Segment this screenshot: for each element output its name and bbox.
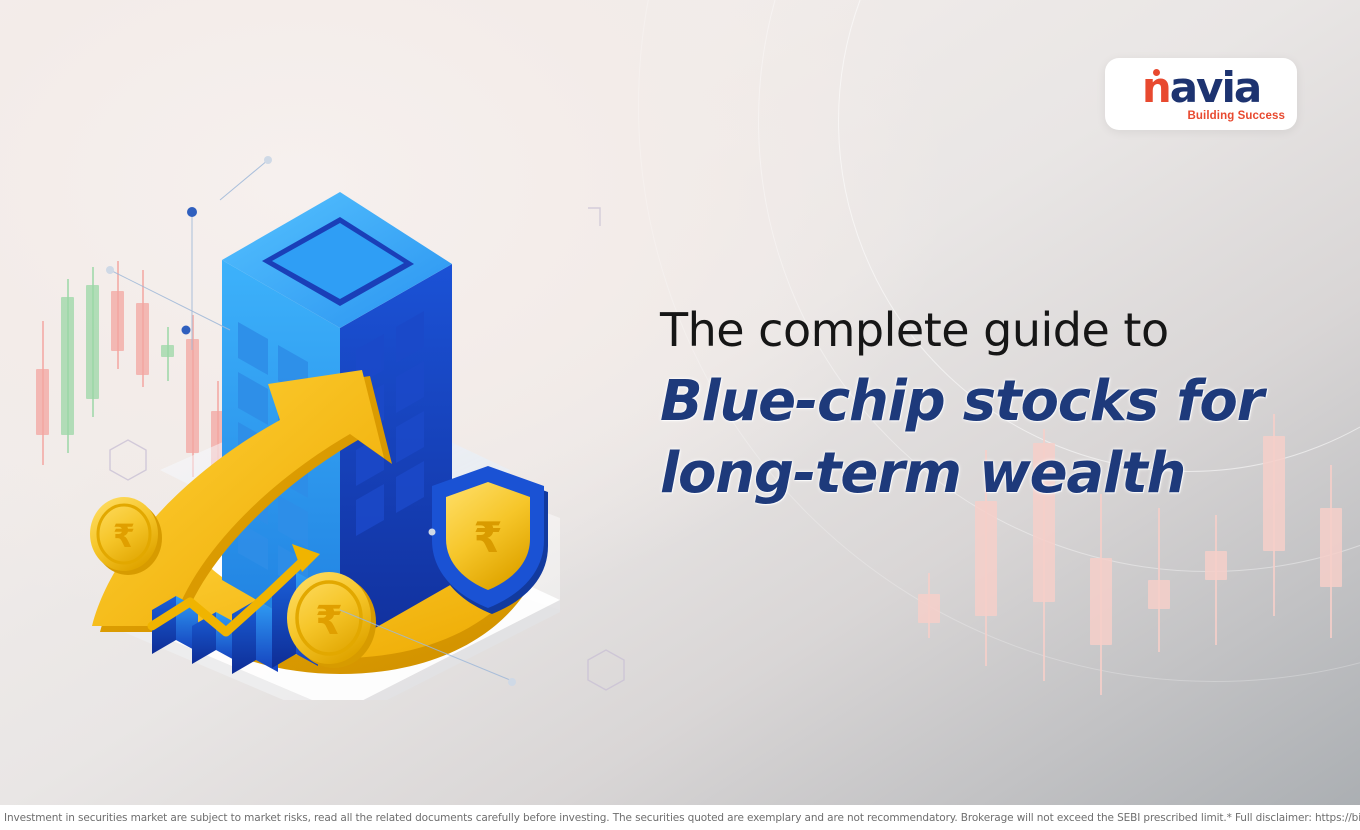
rupee-symbol-shield: ₹ xyxy=(473,513,502,562)
candlestick-body xyxy=(918,594,940,623)
rupee-coin-left: ₹ xyxy=(90,497,162,575)
headline-line-2: Blue-chip stocks for xyxy=(660,366,1320,438)
candlestick-wick xyxy=(1215,515,1217,645)
rupee-symbol-left: ₹ xyxy=(113,517,135,555)
logo-wordmark: n avia xyxy=(1142,67,1260,109)
disclaimer-bar: Investment in securities market are subj… xyxy=(0,805,1360,830)
headline-block: The complete guide to Blue-chip stocks f… xyxy=(660,306,1320,510)
candlestick-wick xyxy=(928,573,930,638)
connector-dots xyxy=(182,207,198,335)
candlestick-body xyxy=(1090,558,1112,644)
candlestick-wick xyxy=(1158,508,1160,652)
navia-logo-card[interactable]: n avia Building Success xyxy=(1105,58,1297,130)
rupee-symbol-bottom: ₹ xyxy=(315,598,343,644)
disclaimer-text: Investment in securities market are subj… xyxy=(0,812,1360,824)
headline-line-1: The complete guide to xyxy=(660,306,1320,354)
candlestick-wick xyxy=(1330,465,1332,638)
candlestick-body xyxy=(1148,580,1170,609)
hero-illustration: ₹ ₹ ₹ xyxy=(40,140,660,700)
bracket-decoration xyxy=(588,208,600,226)
logo-dot-icon xyxy=(1153,69,1160,76)
candlestick-wick xyxy=(1100,494,1102,696)
promotional-banner: ₹ ₹ ₹ xyxy=(0,0,1360,830)
candlestick xyxy=(1320,400,1342,760)
candlestick-body xyxy=(1320,508,1342,587)
logo-letters-avia: avia xyxy=(1170,67,1260,109)
candlestick-body xyxy=(975,501,997,616)
headline-line-3: long-term wealth xyxy=(660,438,1320,510)
candlestick-body xyxy=(1205,551,1227,580)
